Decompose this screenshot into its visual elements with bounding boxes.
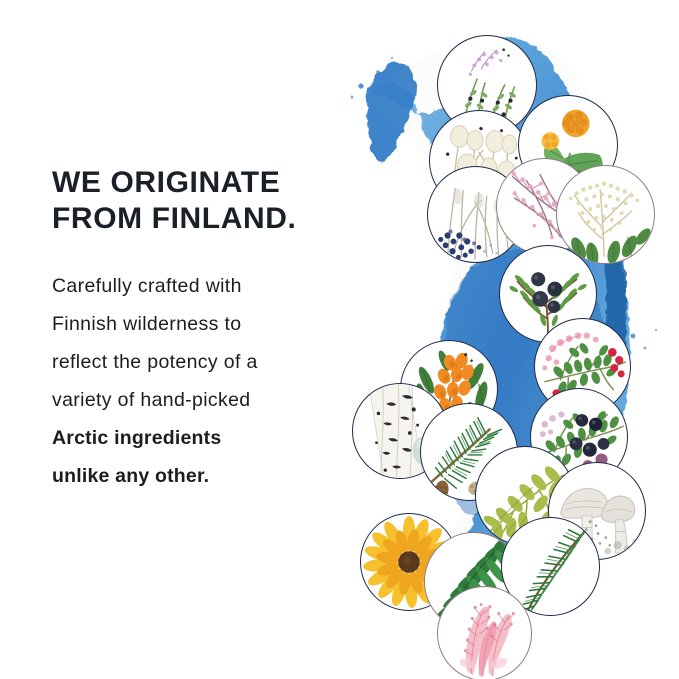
text-panel: WE ORIGINATE FROM FINLAND. Carefully cra… (52, 165, 352, 495)
body-line-2: Finnish wilderness to (52, 313, 241, 335)
body-emphasis-1: Arctic ingredients (52, 427, 221, 449)
body-line-3: reflect the potency of a (52, 351, 258, 373)
botanical-circle-meadowsweet (556, 165, 655, 264)
body-emphasis-2: unlike any other. (52, 465, 209, 487)
botanical-circle-fireweed (437, 586, 532, 679)
body-line-4: variety of hand-picked (52, 389, 250, 411)
poster-canvas: WE ORIGINATE FROM FINLAND. Carefully cra… (0, 0, 679, 679)
body-copy: Carefully crafted with Finnish wildernes… (52, 267, 352, 495)
body-line-1: Carefully crafted with (52, 275, 242, 297)
page-title: WE ORIGINATE FROM FINLAND. (52, 165, 352, 237)
